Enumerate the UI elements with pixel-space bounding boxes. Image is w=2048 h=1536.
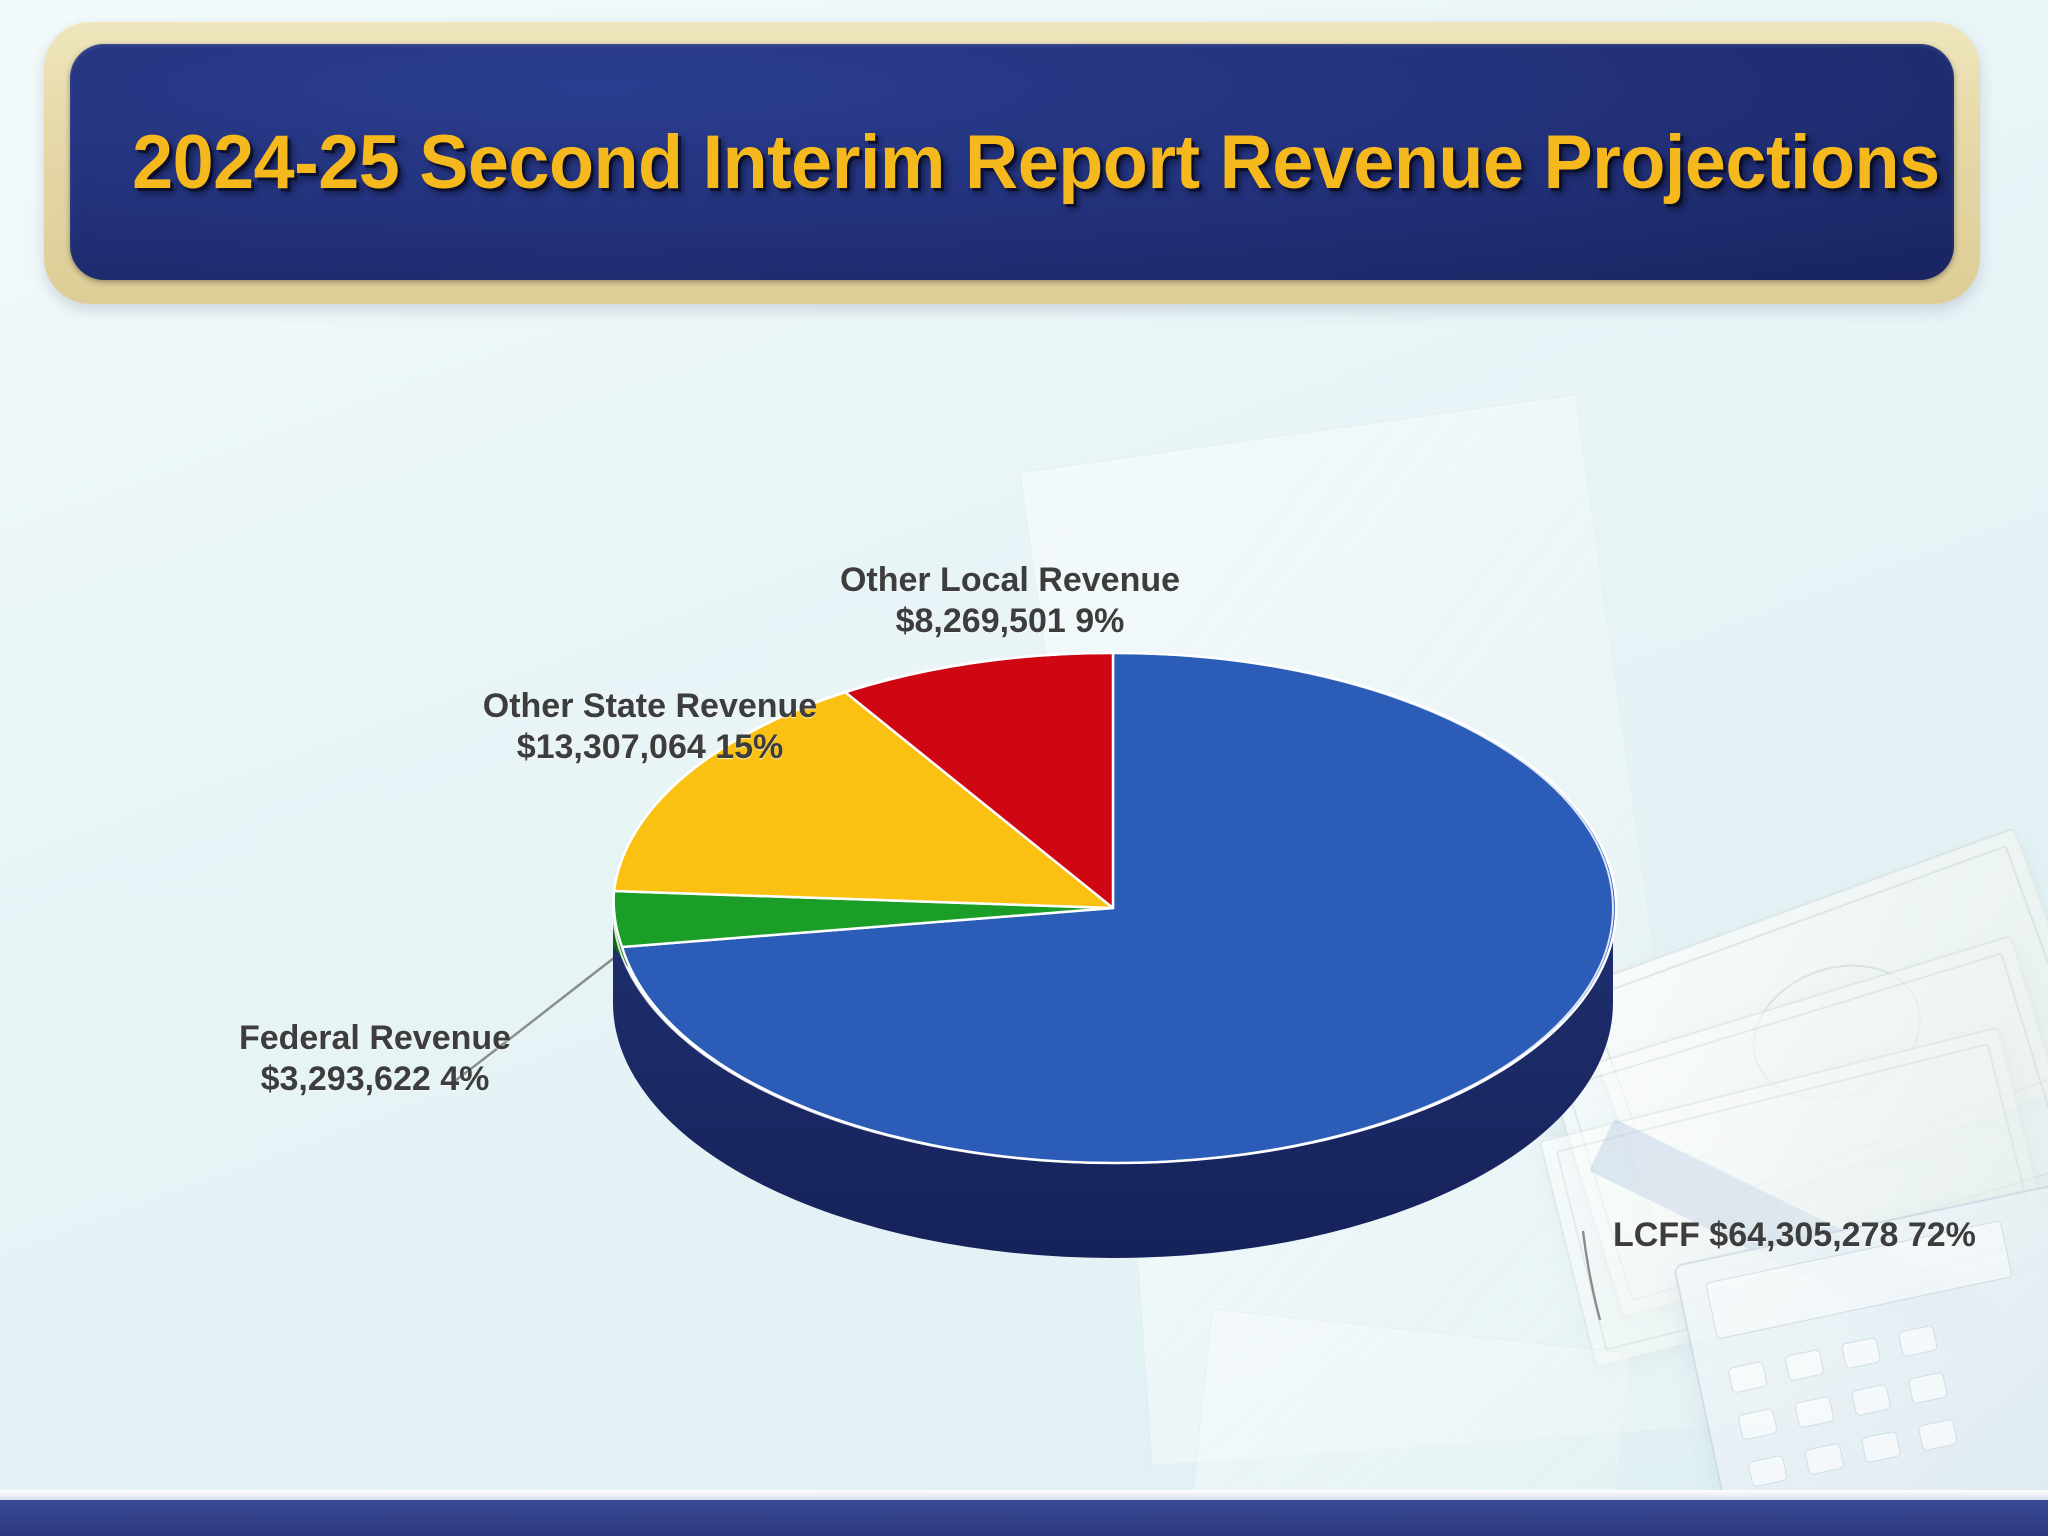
slide-canvas: 2024-25 Second Interim Report Revenue Pr… xyxy=(0,0,2048,1536)
pie-label-other-state-name: Other State Revenue xyxy=(430,686,870,727)
pie-label-federal-value: $3,293,622 4% xyxy=(200,1059,550,1100)
pie-label-lcff-text: LCFF $64,305,278 72% xyxy=(1613,1215,1976,1256)
pie-label-other-state-value: $13,307,064 15% xyxy=(430,727,870,768)
footer-highlight-strip xyxy=(0,1490,2048,1500)
leader-line-lcff xyxy=(1583,1231,1600,1320)
footer-bar xyxy=(0,1500,2048,1536)
pie-label-other-state: Other State Revenue $13,307,064 15% xyxy=(430,686,870,768)
pie-label-federal-name: Federal Revenue xyxy=(200,1018,550,1059)
pie-label-other-local-value: $8,269,501 9% xyxy=(800,601,1220,642)
pie-label-federal: Federal Revenue $3,293,622 4% xyxy=(200,1018,550,1100)
revenue-pie-chart: Other Local Revenue $8,269,501 9% Other … xyxy=(0,0,2048,1536)
pie-label-other-local: Other Local Revenue $8,269,501 9% xyxy=(800,560,1220,642)
pie-label-lcff: LCFF $64,305,278 72% xyxy=(1613,1215,1976,1256)
pie-chart-svg xyxy=(0,0,2048,1536)
pie-label-other-local-name: Other Local Revenue xyxy=(800,560,1220,601)
